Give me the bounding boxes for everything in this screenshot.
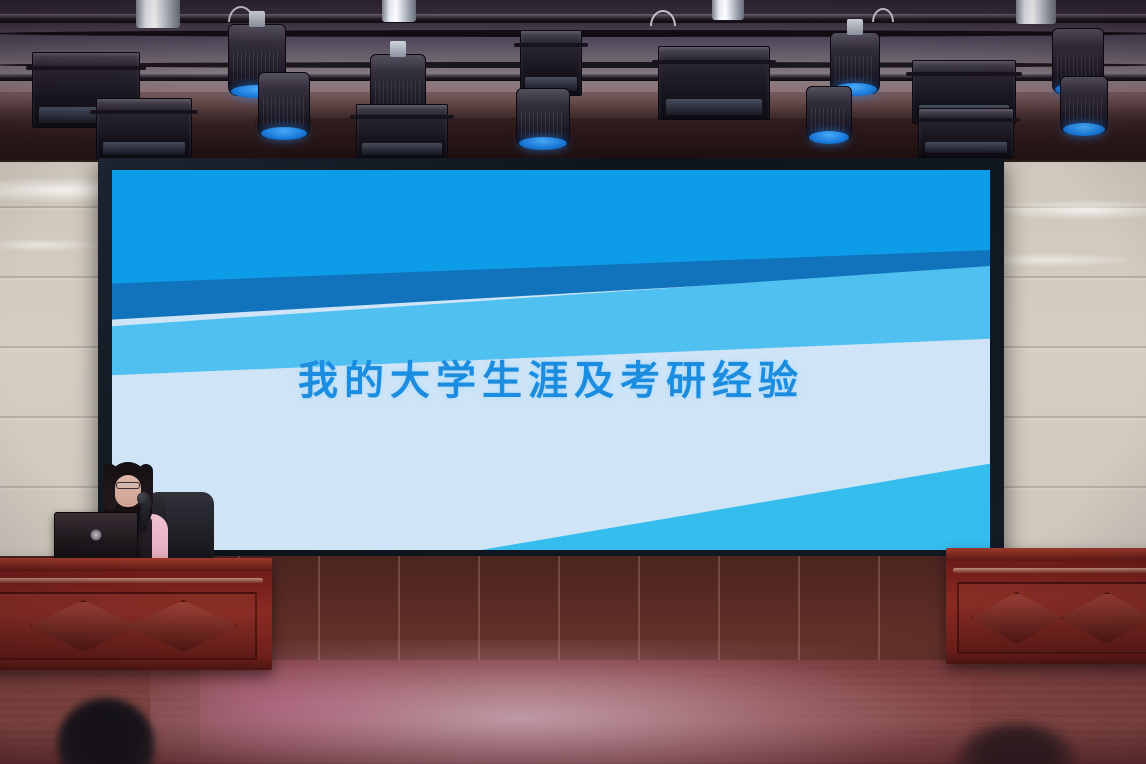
pendant-tube-2 [382, 0, 416, 22]
glasses-icon [116, 482, 140, 489]
pendant-tube-4 [1016, 0, 1056, 24]
led-screen[interactable]: 我的大学生涯及考研经验 [112, 170, 990, 550]
led-wash-right-3-icon [918, 108, 1014, 158]
presentation-slide: 我的大学生涯及考研经验 [112, 170, 990, 550]
par-can-mid-2-icon [516, 88, 570, 148]
par-can-right-2-icon [806, 86, 852, 142]
slide-title: 我的大学生涯及考研经验 [112, 348, 990, 406]
par-can-far-right-icon [1060, 76, 1108, 134]
diamond-carving-icon [1061, 592, 1146, 644]
pendant-tube-1 [136, 0, 180, 28]
speaker-desk-right [946, 548, 1146, 664]
led-screen-bezel: 我的大学生涯及考研经验 [98, 158, 1004, 562]
led-wash-left-2-icon [96, 98, 192, 160]
led-wash-mid-2-icon [356, 104, 448, 160]
laptop[interactable] [54, 512, 138, 560]
speaker-desk-right-panel [957, 582, 1146, 654]
presenter-face [115, 475, 141, 507]
microphone-head-icon [137, 492, 150, 505]
pendant-tube-3 [712, 0, 744, 20]
speaker-desk-left-panel [0, 592, 257, 660]
par-can-left-2-icon [258, 72, 310, 138]
diamond-carving-icon [971, 592, 1063, 644]
par-can-right-1-icon [830, 32, 880, 94]
diamond-carving-icon [30, 600, 138, 652]
led-wash-right-1-icon [658, 46, 770, 120]
diamond-carving-icon [129, 600, 237, 652]
lecture-hall-scene: 我的大学生涯及考研经验 [0, 0, 1146, 764]
led-wash-mid-1-icon [520, 30, 582, 96]
laptop-logo-icon [91, 530, 102, 541]
speaker-desk-left [0, 558, 272, 670]
